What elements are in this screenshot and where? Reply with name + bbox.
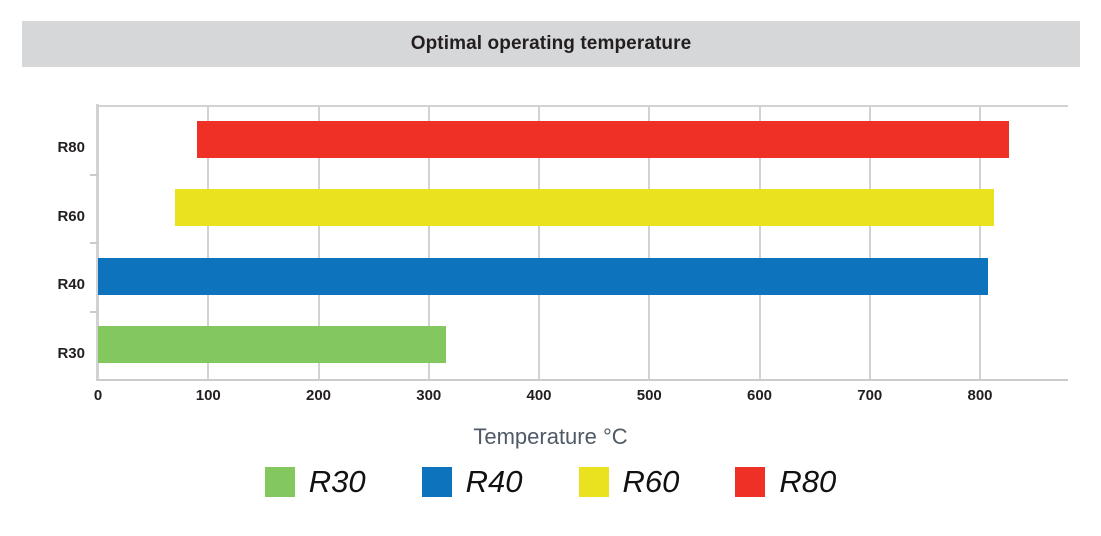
- bar-r40[interactable]: [98, 258, 988, 295]
- legend-item-r60[interactable]: R60: [579, 466, 680, 497]
- y-tick-label: R80: [57, 139, 85, 156]
- bar-r30[interactable]: [98, 326, 446, 363]
- x-axis-title: Temperature °C: [0, 424, 1101, 450]
- legend-swatch-icon: [422, 467, 452, 497]
- y-axis-tick: [90, 174, 98, 176]
- y-axis-tick: [90, 242, 98, 244]
- y-tick-label: R30: [57, 345, 85, 362]
- x-tick-label: 200: [306, 387, 331, 404]
- y-tick-label: R40: [57, 276, 85, 293]
- bar-r80[interactable]: [197, 121, 1008, 158]
- legend-swatch-icon: [579, 467, 609, 497]
- chart-legend: R30R40R60R80: [0, 466, 1101, 497]
- legend-swatch-icon: [265, 467, 295, 497]
- x-tick-label: 400: [526, 387, 551, 404]
- x-axis-line: [96, 379, 1068, 381]
- legend-item-r40[interactable]: R40: [422, 466, 523, 497]
- y-axis-tick: [90, 311, 98, 313]
- x-tick-label: 300: [416, 387, 441, 404]
- x-tick-label: 700: [857, 387, 882, 404]
- y-tick-label: R60: [57, 208, 85, 225]
- x-tick-label: 500: [637, 387, 662, 404]
- legend-label: R40: [466, 466, 523, 497]
- legend-label: R80: [779, 466, 836, 497]
- x-tick-label: 0: [94, 387, 102, 404]
- bar-chart: R80R60R40R30 0100200300400500600700800 T…: [0, 0, 1101, 536]
- x-tick-label: 800: [967, 387, 992, 404]
- legend-label: R30: [309, 466, 366, 497]
- x-tick-label: 100: [196, 387, 221, 404]
- legend-label: R60: [623, 466, 680, 497]
- bar-r60[interactable]: [175, 189, 994, 226]
- x-tick-label: 600: [747, 387, 772, 404]
- legend-swatch-icon: [735, 467, 765, 497]
- legend-item-r30[interactable]: R30: [265, 466, 366, 497]
- legend-item-r80[interactable]: R80: [735, 466, 836, 497]
